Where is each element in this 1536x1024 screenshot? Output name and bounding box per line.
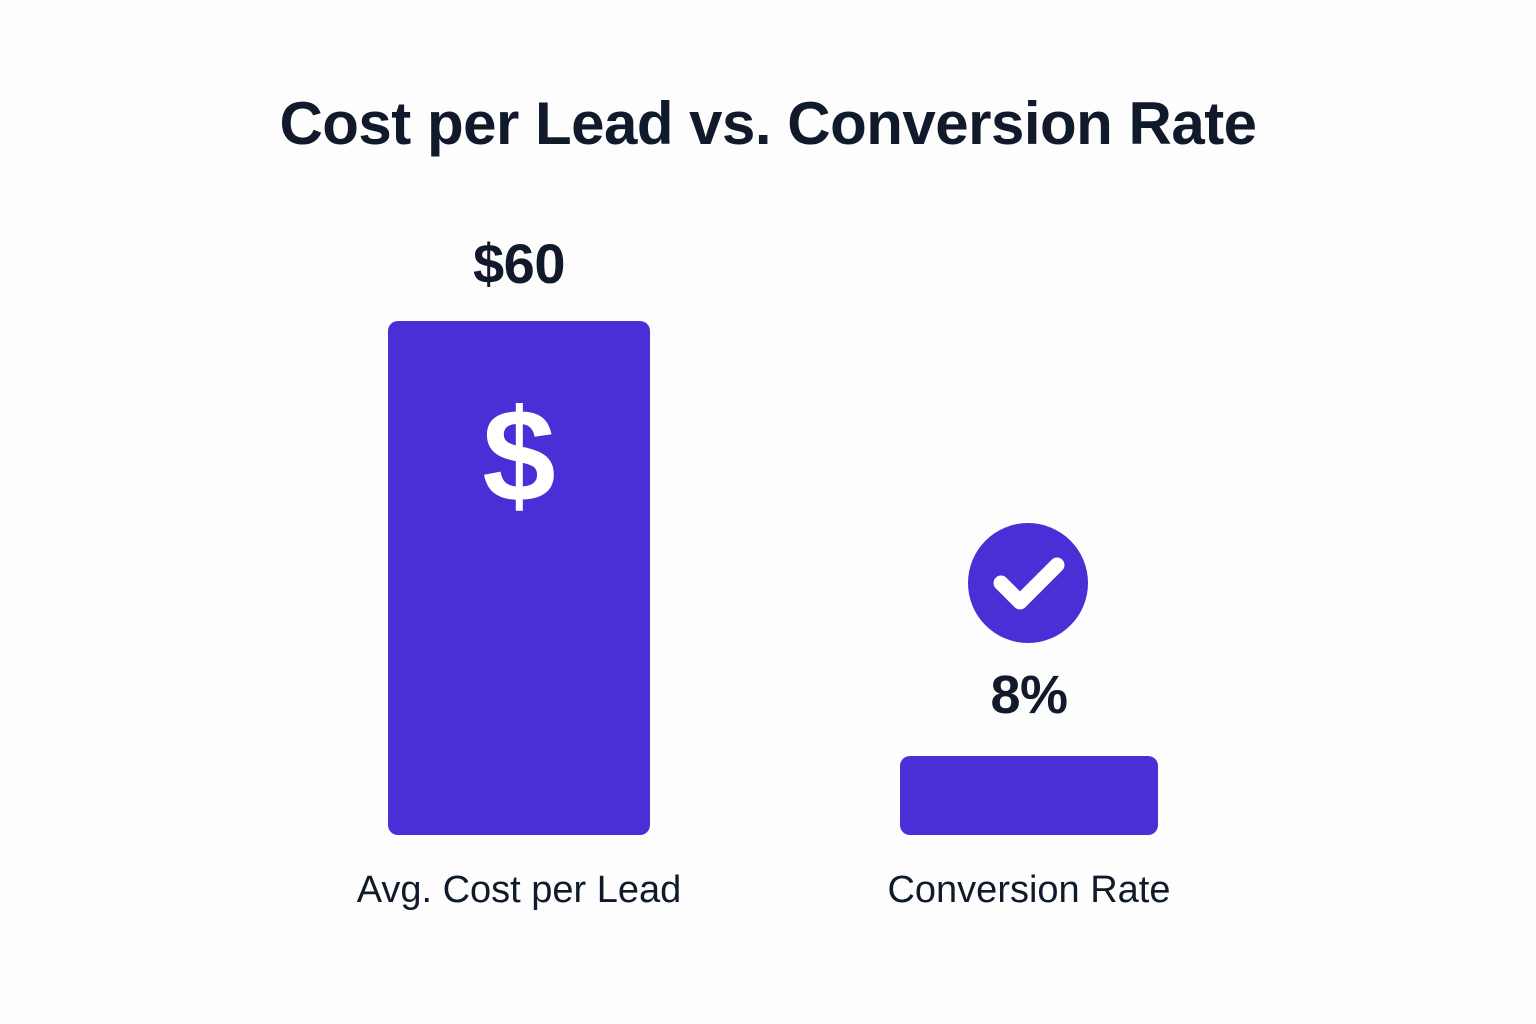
bar-value-label-conversion-rate: 8%	[900, 668, 1158, 722]
chart-container: Cost per Lead vs. Conversion Rate $60 $ …	[0, 0, 1536, 1024]
plot-area: $60 $ 8% Avg. Cost per Lead Conversion R…	[0, 0, 1536, 1024]
category-label-cost-per-lead: Avg. Cost per Lead	[288, 870, 750, 912]
bar-cost-per-lead[interactable]	[388, 321, 650, 835]
bar-conversion-rate[interactable]	[900, 756, 1158, 835]
check-circle-icon	[968, 523, 1088, 643]
category-label-conversion-rate: Conversion Rate	[829, 870, 1229, 912]
bar-value-label-cost-per-lead: $60	[388, 236, 650, 292]
